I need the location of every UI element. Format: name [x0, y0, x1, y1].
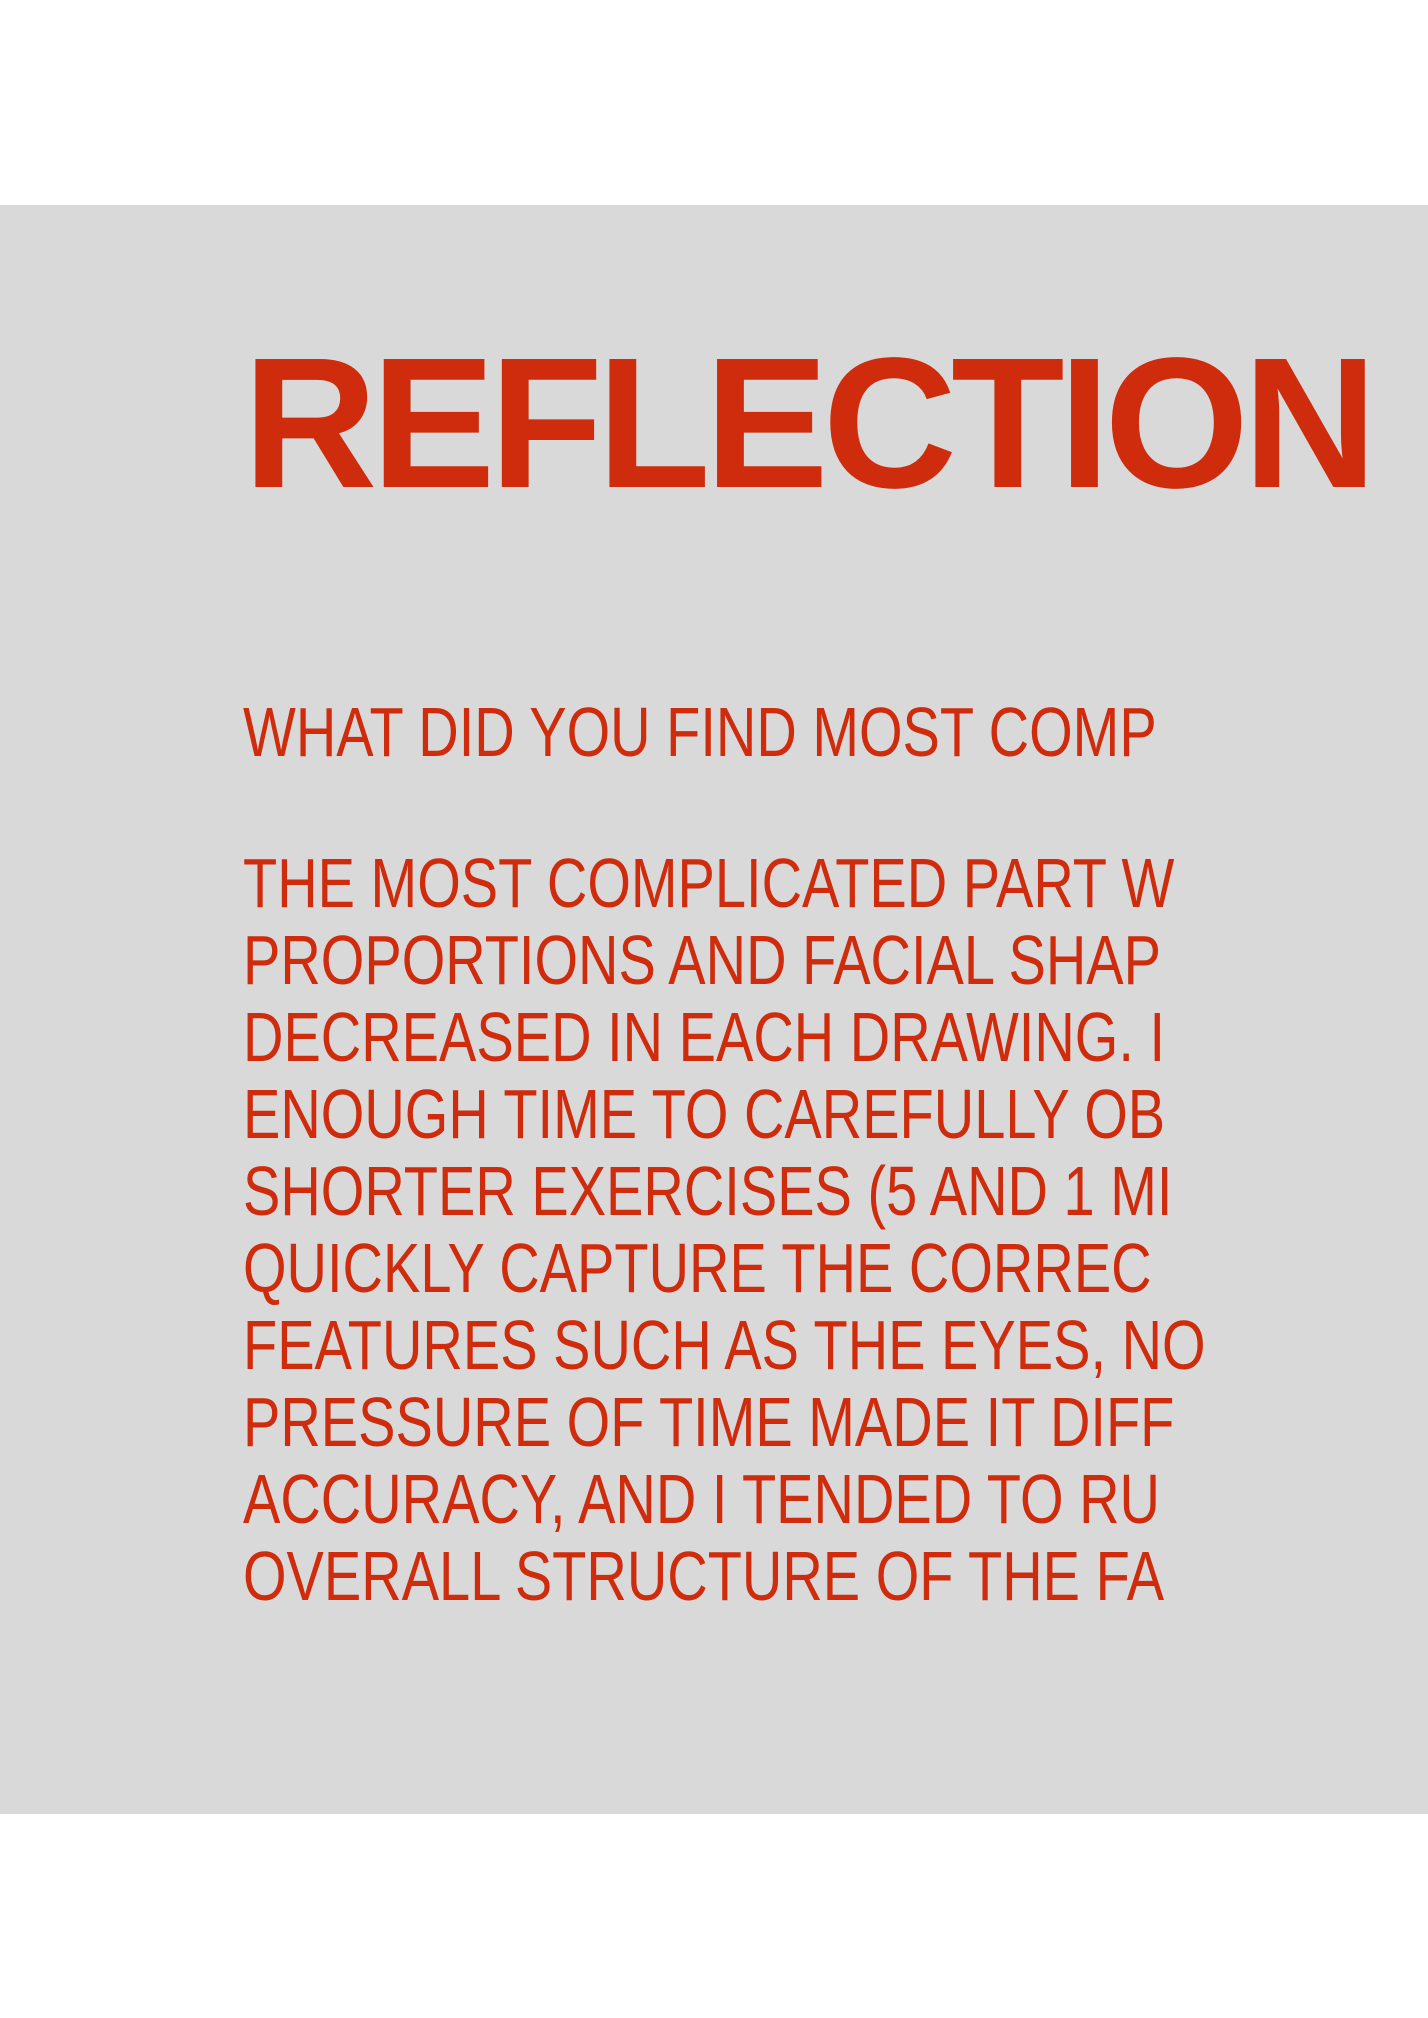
reflection-question: WHAT DID YOU FIND MOST COMP [243, 697, 1157, 767]
body-line: DECREASED IN EACH DRAWING. I [243, 999, 1206, 1076]
page-title: REFLECTION [243, 333, 1371, 515]
body-line: PROPORTIONS AND FACIAL SHAP [243, 922, 1206, 999]
body-line: THE MOST COMPLICATED PART W [243, 845, 1206, 922]
reflection-answer: THE MOST COMPLICATED PART W PROPORTIONS … [243, 845, 1206, 1615]
body-line: SHORTER EXERCISES (5 AND 1 MI [243, 1153, 1206, 1230]
body-line: QUICKLY CAPTURE THE CORREC [243, 1230, 1206, 1307]
body-line: FEATURES SUCH AS THE EYES, NO [243, 1307, 1206, 1384]
body-line: OVERALL STRUCTURE OF THE FA [243, 1538, 1206, 1615]
body-line: PRESSURE OF TIME MADE IT DIFF [243, 1384, 1206, 1461]
slide-canvas: REFLECTION WHAT DID YOU FIND MOST COMP T… [0, 0, 1428, 2018]
body-line: ENOUGH TIME TO CAREFULLY OB [243, 1076, 1206, 1153]
body-line: ACCURACY, AND I TENDED TO RU [243, 1461, 1206, 1538]
slide-panel: REFLECTION WHAT DID YOU FIND MOST COMP T… [0, 205, 1428, 1814]
